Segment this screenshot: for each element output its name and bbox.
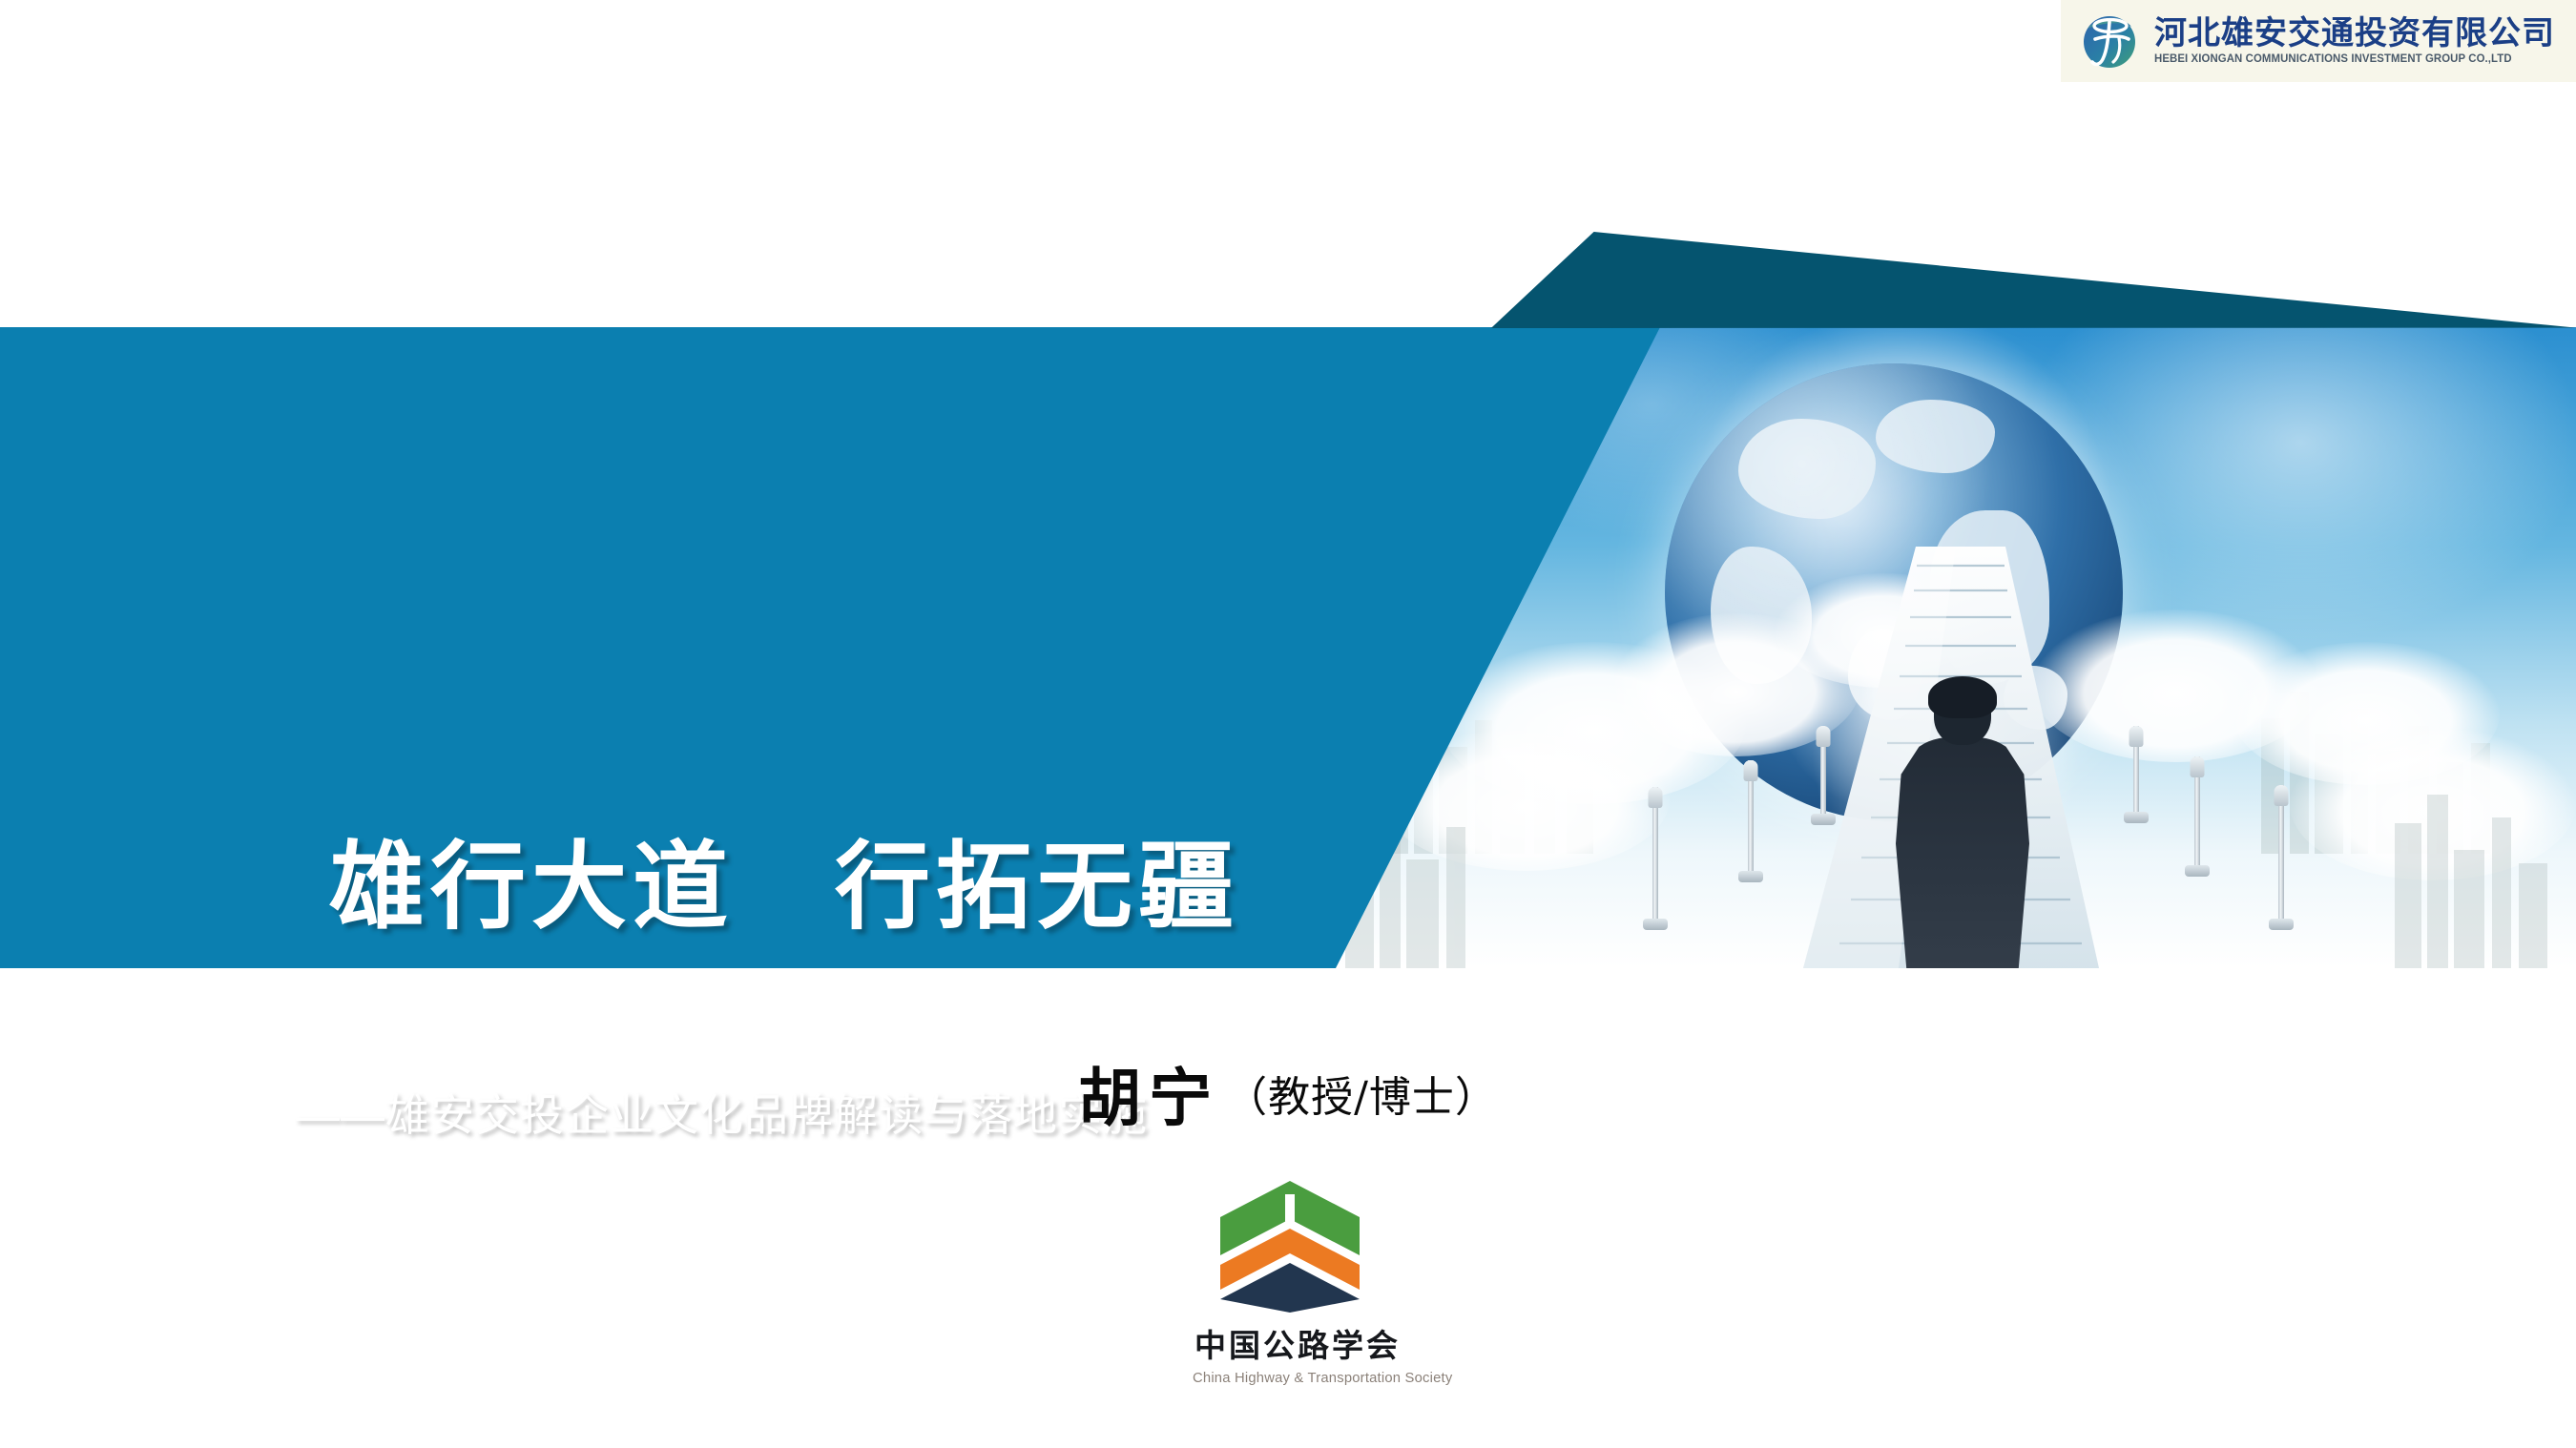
page-title: 雄行大道 行拓无疆 <box>329 831 1239 943</box>
hero-band-accent-flag <box>1307 232 2576 328</box>
hero-banner: 雄行大道 行拓无疆 ——雄安交投企业文化品牌解读与落地实施 <box>0 327 2576 968</box>
corporate-logo: 河北雄安交通投资有限公司 HEBEI XIONGAN COMMUNICATION… <box>2061 0 2576 82</box>
lamp-post-icon <box>2185 756 2210 877</box>
presenter-credentials: （教授/博士） <box>1225 1073 1498 1122</box>
presenter: 胡宁（教授/博士） <box>0 1047 2576 1139</box>
lamp-post-icon <box>2126 726 2147 823</box>
presenter-name: 胡宁 <box>1078 1061 1219 1135</box>
businessman-silhouette-icon <box>1882 682 2043 968</box>
corporate-name-en: HEBEI XIONGAN COMMUNICATIONS INVESTMENT … <box>2154 54 2551 66</box>
lamp-post-icon <box>1813 726 1834 825</box>
presentation-slide: 河北雄安交通投资有限公司 HEBEI XIONGAN COMMUNICATION… <box>0 0 2576 1448</box>
society-name-cn: 中国公路学会 <box>1195 1320 1385 1366</box>
xiongan-circular-emblem-icon <box>2074 10 2145 72</box>
society-logo: 中国公路学会 China Highway & Transportation So… <box>1195 1175 1385 1386</box>
lamp-post-icon <box>1738 760 1763 882</box>
hexagon-cube-icon <box>1215 1175 1365 1318</box>
lamp-post-icon <box>1641 787 1670 930</box>
corporate-logo-text: 河北雄安交通投资有限公司 HEBEI XIONGAN COMMUNICATION… <box>2154 17 2555 66</box>
society-name-en: China Highway & Transportation Society <box>1193 1371 1387 1386</box>
corporate-name-cn: 河北雄安交通投资有限公司 <box>2154 17 2555 50</box>
lamp-post-icon <box>2267 785 2296 930</box>
